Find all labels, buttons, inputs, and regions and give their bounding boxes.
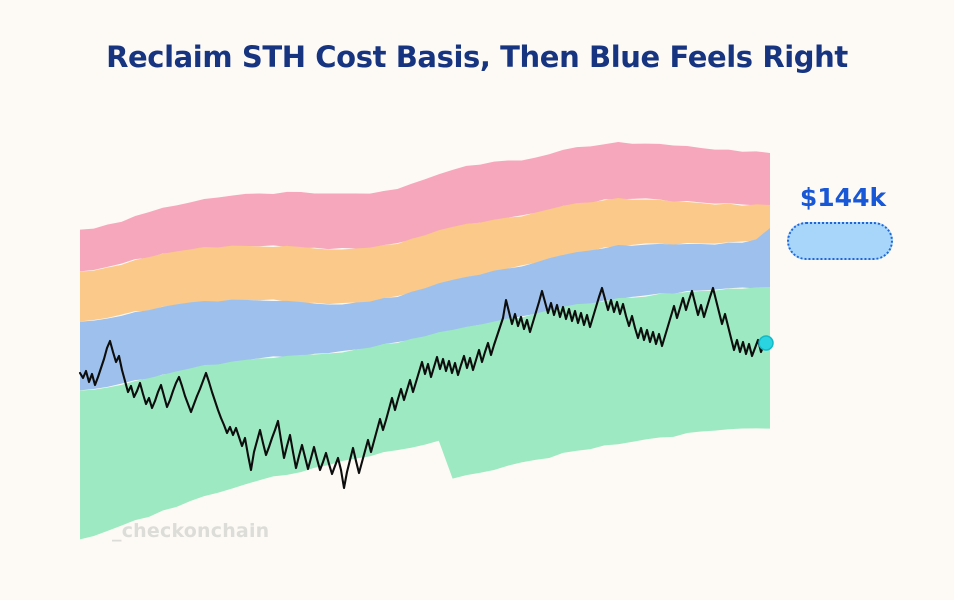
valuation-bands-group — [80, 142, 770, 539]
target-price-label: $144k — [787, 185, 899, 210]
watermark-label: _checkonchain — [112, 520, 269, 542]
target-annotation: $144k — [787, 185, 899, 260]
current-price-marker[interactable] — [759, 336, 773, 350]
chart-canvas: Reclaim STH Cost Basis, Then Blue Feels … — [0, 0, 954, 600]
target-zone-box[interactable] — [787, 222, 893, 260]
price-bands-plot — [0, 0, 954, 600]
